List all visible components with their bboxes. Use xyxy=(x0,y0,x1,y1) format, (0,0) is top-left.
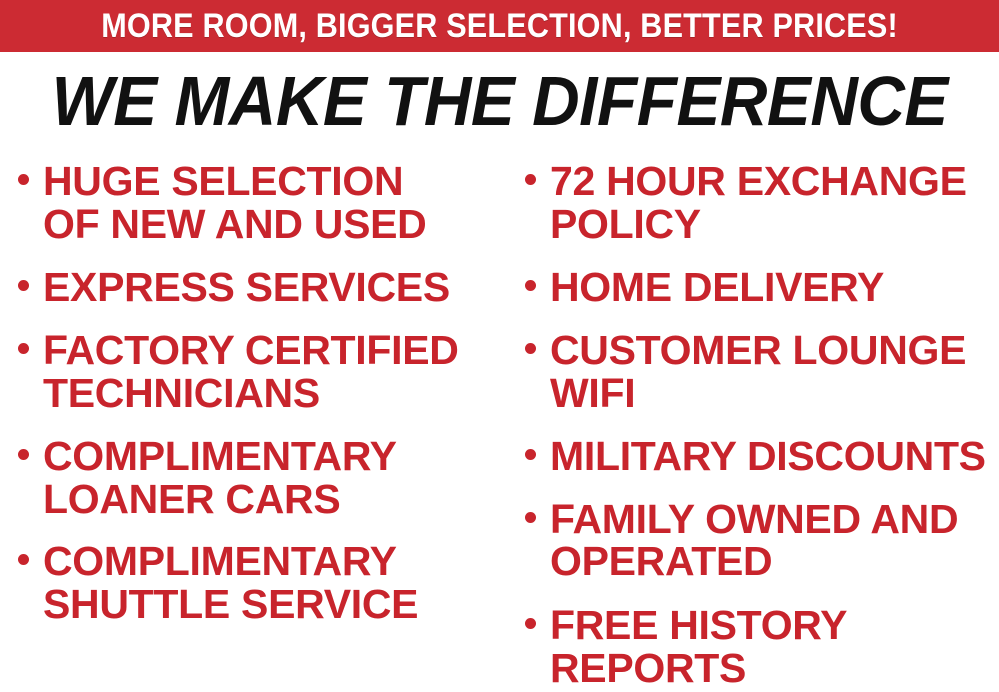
list-item: FAMILY OWNED AND OPERATED xyxy=(525,498,999,583)
list-item: EXPRESS SERVICES xyxy=(18,266,505,309)
bullet-dot-icon xyxy=(525,174,536,185)
list-item: FREE HISTORY REPORTS xyxy=(525,604,999,689)
banner-headline-text: MORE ROOM, BIGGER SELECTION, BETTER PRIC… xyxy=(101,9,898,43)
list-item: COMPLIMENTARY LOANER CARS xyxy=(18,435,505,520)
page-title: WE MAKE THE DIFFERENCE xyxy=(51,66,947,136)
bullet-dot-icon xyxy=(525,343,536,354)
list-item-label: HOME DELIVERY xyxy=(550,266,884,309)
list-item-label: COMPLIMENTARY SHUTTLE SERVICE xyxy=(43,540,418,625)
list-item-label: EXPRESS SERVICES xyxy=(43,266,450,309)
list-item: COMPLIMENTARY SHUTTLE SERVICE xyxy=(18,540,505,625)
list-item-label: FREE HISTORY REPORTS xyxy=(550,604,847,689)
benefits-columns: HUGE SELECTION OF NEW AND USED EXPRESS S… xyxy=(0,160,999,692)
list-item: 72 HOUR EXCHANGE POLICY xyxy=(525,160,999,245)
list-item-label: COMPLIMENTARY LOANER CARS xyxy=(43,435,397,520)
list-item: CUSTOMER LOUNGE WIFI xyxy=(525,329,999,414)
list-item-label: FACTORY CERTIFIED TECHNICIANS xyxy=(43,329,459,414)
bullet-dot-icon xyxy=(525,512,536,523)
benefits-column-right: 72 HOUR EXCHANGE POLICY HOME DELIVERY CU… xyxy=(505,160,999,692)
list-item-label: CUSTOMER LOUNGE WIFI xyxy=(550,329,966,414)
promo-poster: MORE ROOM, BIGGER SELECTION, BETTER PRIC… xyxy=(0,0,999,692)
list-item: HUGE SELECTION OF NEW AND USED xyxy=(18,160,505,245)
bullet-dot-icon xyxy=(18,343,29,354)
list-item: FACTORY CERTIFIED TECHNICIANS xyxy=(18,329,505,414)
bullet-dot-icon xyxy=(525,449,536,460)
bullet-dot-icon xyxy=(18,449,29,460)
bullet-dot-icon xyxy=(18,174,29,185)
bullet-dot-icon xyxy=(18,554,29,565)
list-item: MILITARY DISCOUNTS xyxy=(525,435,999,478)
list-item-label: HUGE SELECTION OF NEW AND USED xyxy=(43,160,426,245)
bullet-dot-icon xyxy=(18,280,29,291)
bullet-dot-icon xyxy=(525,280,536,291)
top-banner: MORE ROOM, BIGGER SELECTION, BETTER PRIC… xyxy=(0,0,999,52)
benefits-column-left: HUGE SELECTION OF NEW AND USED EXPRESS S… xyxy=(0,160,505,692)
list-item-label: 72 HOUR EXCHANGE POLICY xyxy=(550,160,967,245)
list-item-label: FAMILY OWNED AND OPERATED xyxy=(550,498,958,583)
list-item: HOME DELIVERY xyxy=(525,266,999,309)
headline-container: WE MAKE THE DIFFERENCE xyxy=(0,62,999,140)
bullet-dot-icon xyxy=(525,618,536,629)
list-item-label: MILITARY DISCOUNTS xyxy=(550,435,986,478)
